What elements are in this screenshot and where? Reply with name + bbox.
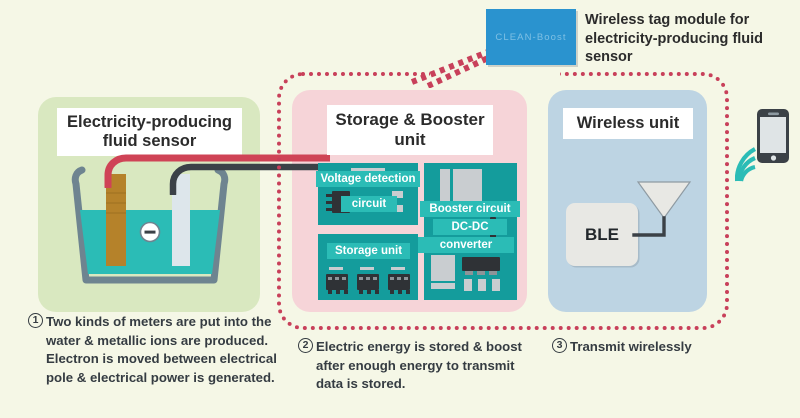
label-booster-circuit-line1: Booster circuit — [420, 201, 520, 217]
label-booster-circuit-line3: converter — [418, 237, 514, 253]
caption-number-1: 1 — [28, 313, 43, 328]
ble-label: BLE — [585, 225, 619, 245]
antenna-icon — [632, 178, 696, 248]
caption-number-2: 2 — [298, 338, 313, 353]
clean-boost-module-chip: CLEAN-Boost — [486, 9, 576, 65]
caption-text-3: Transmit wirelessly — [570, 338, 762, 357]
panel-title-storage: Storage & Booster unit — [327, 105, 493, 155]
caption-step-1: 1 Two kinds of meters are put into the w… — [28, 313, 283, 388]
label-voltage-detection-line2: circuit — [341, 196, 397, 212]
caption-number-3: 3 — [552, 338, 567, 353]
wire-black-negative — [166, 160, 336, 195]
caption-step-3: 3 Transmit wirelessly — [552, 338, 762, 357]
diagram-canvas: CLEAN-Boost Wireless tag module for elec… — [0, 0, 800, 418]
panel-title-sensor: Electricity-producing fluid sensor — [57, 108, 242, 156]
panel-title-wireless: Wireless unit — [563, 108, 693, 139]
label-voltage-detection-line1: Voltage detection — [316, 171, 420, 187]
clean-boost-label: CLEAN-Boost — [495, 32, 566, 43]
label-storage-unit: Storage unit — [327, 243, 410, 259]
caption-step-2: 2 Electric energy is stored & boost afte… — [298, 338, 528, 394]
caption-text-2: Electric energy is stored & boost after … — [316, 338, 528, 394]
smartphone-icon — [735, 105, 795, 190]
label-booster-circuit-line2: DC-DC — [433, 219, 507, 235]
ble-chip: BLE — [566, 203, 638, 266]
caption-text-1: Two kinds of meters are put into the wat… — [46, 313, 283, 388]
module-callout-caption: Wireless tag module for electricity-prod… — [585, 11, 795, 67]
